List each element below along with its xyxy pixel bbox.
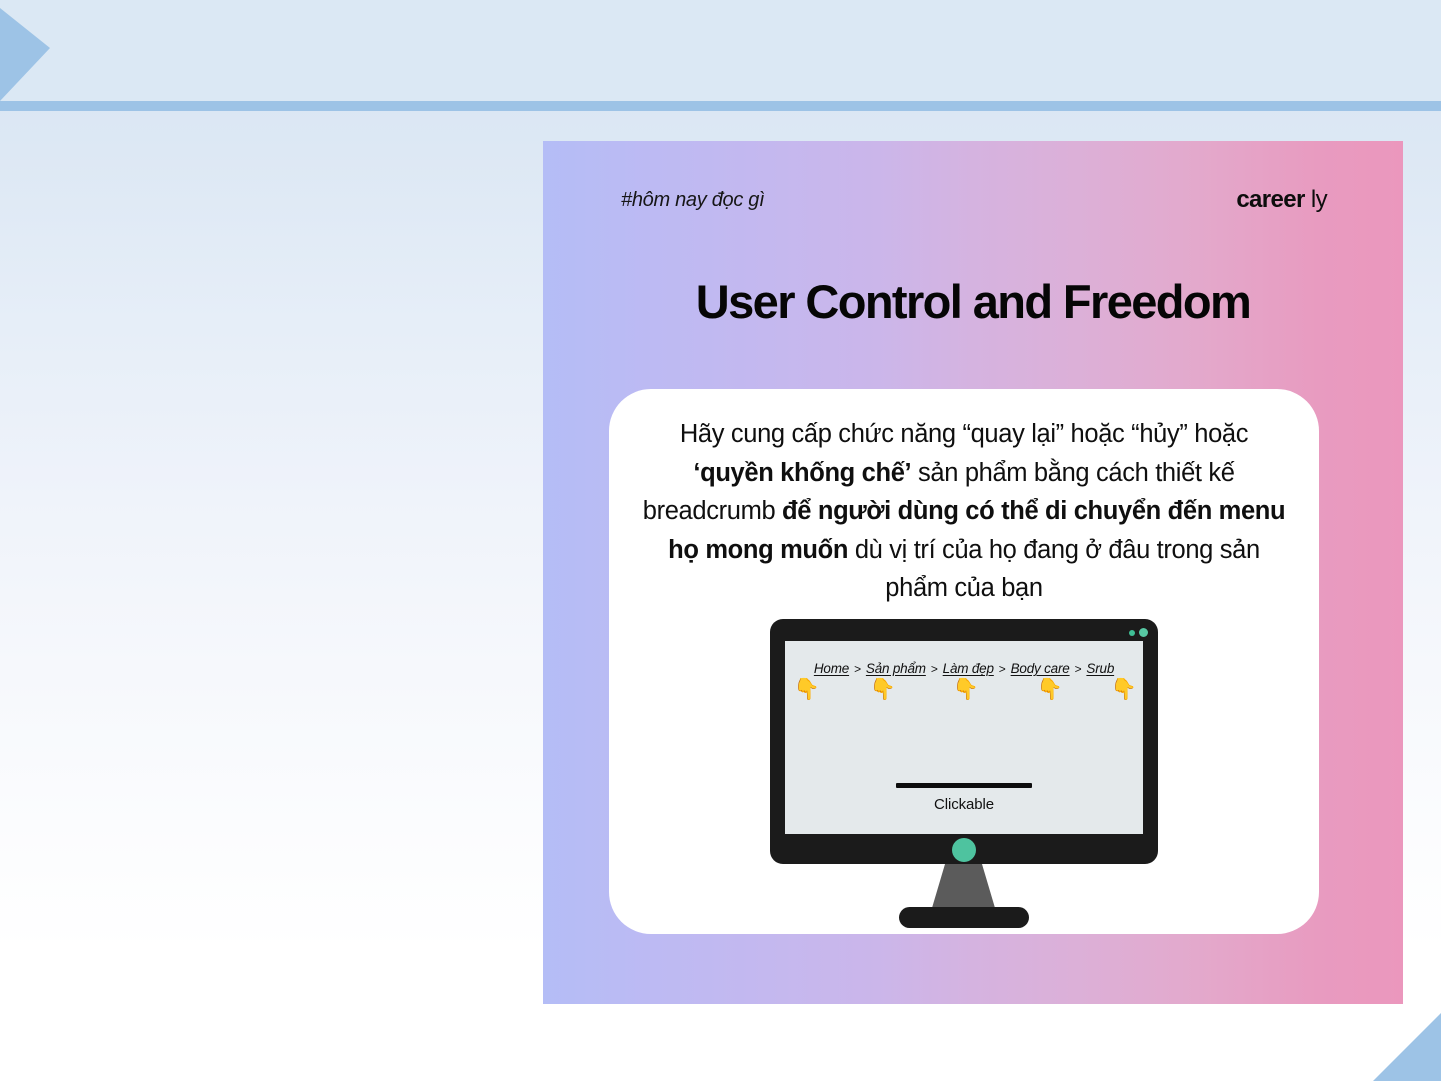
banner-triangle-icon [0, 8, 50, 101]
pointing-hand-icon: 👇 [786, 679, 828, 700]
slide-canvas: #hôm nay đọc gì career ly User Control a… [0, 0, 1441, 1081]
body-text-part-3: dù vị trí của họ đang ở đâu trong sản ph… [848, 536, 1260, 603]
page-title: User Control and Freedom [543, 276, 1403, 328]
clickable-underline-rule [896, 783, 1032, 788]
breadcrumb-separator: > [999, 662, 1006, 676]
monitor-indicator-dot-large-icon [1139, 628, 1148, 637]
breadcrumb-separator: > [854, 662, 861, 676]
hashtag-label: #hôm nay đọc gì [621, 189, 764, 212]
brand-logo: career ly [1236, 186, 1327, 214]
body-copy: Hãy cung cấp chức năng “quay lại” hoặc “… [639, 415, 1289, 608]
content-card: #hôm nay đọc gì career ly User Control a… [543, 141, 1403, 1004]
monitor-power-button[interactable] [952, 838, 976, 862]
breadcrumb: Home > Sản phẩm > Làm đẹp > Body care > … [785, 661, 1143, 676]
monitor-screen: Home > Sản phẩm > Làm đẹp > Body care > … [785, 641, 1143, 834]
pointing-hand-icon: 👇 [1016, 679, 1084, 700]
brand-name-strong: career [1236, 186, 1304, 213]
pointer-hand-row: 👇 👇 👇 👇 👇 [785, 679, 1143, 700]
breadcrumb-item-body-care[interactable]: Body care [1011, 661, 1070, 676]
pointing-hand-icon: 👇 [1106, 679, 1142, 700]
corner-triangle-icon [1373, 1013, 1441, 1081]
clickable-label: Clickable [785, 796, 1143, 813]
body-text-part-1: Hãy cung cấp chức năng “quay lại” hoặc “… [680, 420, 1248, 448]
monitor-illustration: Home > Sản phẩm > Làm đẹp > Body care > … [766, 619, 1161, 929]
breadcrumb-separator: > [931, 662, 938, 676]
monitor-bezel: Home > Sản phẩm > Làm đẹp > Body care > … [770, 619, 1158, 864]
breadcrumb-item-san-pham[interactable]: Sản phẩm [866, 661, 926, 676]
breadcrumb-item-srub[interactable]: Srub [1086, 661, 1114, 676]
body-text-bold-1: ‘quyền khống chế’ [693, 459, 911, 487]
brand-name-light: ly [1305, 186, 1327, 213]
pointing-hand-icon: 👇 [850, 679, 916, 700]
monitor-stand-base [899, 907, 1029, 928]
banner-divider-rule [0, 101, 1441, 111]
monitor-indicator-dot-small-icon [1129, 630, 1135, 636]
monitor-stand-neck [931, 864, 997, 913]
card-header: #hôm nay đọc gì career ly [621, 186, 1327, 214]
pointing-hand-icon: 👇 [938, 679, 994, 700]
breadcrumb-item-lam-dep[interactable]: Làm đẹp [943, 661, 994, 676]
breadcrumb-item-home[interactable]: Home [814, 661, 849, 676]
top-banner [0, 0, 1441, 101]
white-panel: Hãy cung cấp chức năng “quay lại” hoặc “… [609, 389, 1319, 934]
breadcrumb-separator: > [1075, 662, 1082, 676]
